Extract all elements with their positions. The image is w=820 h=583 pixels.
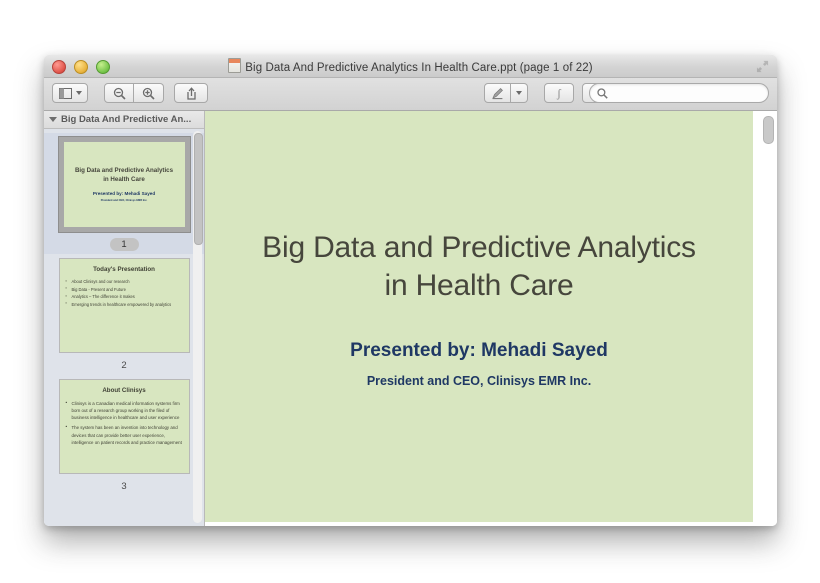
window-titlebar[interactable]: Big Data And Predictive Analytics In Hea… [44,55,777,78]
signature-button[interactable]: ʃ [544,83,574,103]
search-input[interactable] [612,86,756,100]
thumbnail-item-1[interactable]: Big Data and Predictive Analytics in Hea… [44,133,204,254]
window-title-text: Big Data And Predictive Analytics In Hea… [245,62,592,74]
thumbnail-item-2[interactable]: Today's Presentation About Clinisys and … [44,254,204,375]
preview-window: Big Data And Predictive Analytics In Hea… [44,55,777,526]
slide-role: President and CEO, Clinisys EMR Inc. [367,374,591,388]
search-icon [597,88,608,99]
signature-icon: ʃ [557,86,561,101]
zoom-out-icon [113,87,126,100]
signature-group: ʃ [544,83,574,103]
list-item: Big Data - Present and Future [66,287,183,293]
slide-page-1: Big Data and Predictive Analytics in Hea… [205,111,753,522]
thumb2-bullet-list: About Clinisys and our research Big Data… [66,279,183,308]
list-item: Emerging trends in healthcare empowered … [66,302,183,308]
thumb1-title-line1: Big Data and Predictive Analytics [75,167,173,176]
sidebar-scrollbar-track[interactable] [193,131,202,523]
list-item: About Clinisys and our research [66,279,183,285]
thumb3-heading: About Clinisys [66,387,183,394]
thumb3-bullet-list: Clinisys is a Canadian medical informati… [66,400,183,446]
slide-title: Big Data and Predictive Analytics in Hea… [262,229,696,306]
chevron-down-icon [76,91,82,95]
sidebar-toggle-button[interactable] [52,83,88,103]
thumbnail-preview-1: Big Data and Predictive Analytics in Hea… [59,137,190,232]
toolbar: ʃ [44,78,777,111]
zoom-out-button[interactable] [104,83,134,103]
slide-presenter: Presented by: Mehadi Sayed [350,340,608,362]
zoom-in-icon [142,87,155,100]
markup-menu-button[interactable] [511,83,528,103]
sidebar-panel-icon [59,88,72,99]
window-title: Big Data And Predictive Analytics In Hea… [44,58,777,74]
document-icon [228,58,241,73]
markup-group [484,83,528,103]
thumbnail-page-number-1: 1 [110,238,139,251]
fullscreen-icon[interactable] [756,60,769,73]
disclosure-triangle-icon[interactable] [49,117,57,122]
window-body: Big Data And Predictive An... Big Data a… [44,111,777,526]
share-icon [185,87,198,100]
thumbnail-page-number-2: 2 [110,359,139,372]
thumb1-role: President and CEO, Clinisys EMR Inc. [101,199,148,202]
thumbnail-sidebar: Big Data And Predictive An... Big Data a… [44,111,205,526]
list-item: Clinisys is a Canadian medical informati… [66,400,183,421]
sidebar-scrollbar-thumb[interactable] [194,133,203,245]
thumbnail-slide-content-1: Big Data and Predictive Analytics in Hea… [64,142,185,227]
list-item: Analytics – The difference it makes [66,294,183,300]
screenshot-stage: Big Data And Predictive Analytics In Hea… [0,0,820,583]
share-group [174,83,208,103]
document-view[interactable]: Big Data and Predictive Analytics in Hea… [205,111,777,526]
share-button[interactable] [174,83,208,103]
thumbnail-preview-3: About Clinisys Clinisys is a Canadian me… [59,379,190,474]
zoom-group [104,83,164,103]
thumbnail-slide-content-3: About Clinisys Clinisys is a Canadian me… [60,380,189,473]
zoom-in-button[interactable] [134,83,164,103]
list-item: The system has been an invention into te… [66,424,183,445]
slide-title-line2: in Health Care [262,267,696,305]
chevron-down-icon [516,91,522,95]
thumbnail-slide-content-2: Today's Presentation About Clinisys and … [60,259,189,352]
content-scrollbar-track[interactable] [764,115,774,523]
sidebar-header-label: Big Data And Predictive An... [61,114,191,125]
slide-title-line1: Big Data and Predictive Analytics [262,229,696,267]
sidebar-toggle-group [52,83,88,103]
thumbnail-list[interactable]: Big Data and Predictive Analytics in Hea… [44,129,204,526]
thumb1-presenter: Presented by: Mehadi Sayed [93,191,155,196]
markup-button[interactable] [484,83,511,103]
thumb2-heading: Today's Presentation [66,266,183,273]
thumbnail-preview-2: Today's Presentation About Clinisys and … [59,258,190,353]
marker-pen-icon [491,87,504,100]
sidebar-header[interactable]: Big Data And Predictive An... [44,111,204,129]
thumbnail-item-3[interactable]: About Clinisys Clinisys is a Canadian me… [44,375,204,496]
search-field[interactable] [589,83,769,103]
content-scrollbar-thumb[interactable] [763,116,774,144]
thumb1-title-line2: in Health Care [103,176,145,185]
thumbnail-page-number-3: 3 [110,480,139,493]
